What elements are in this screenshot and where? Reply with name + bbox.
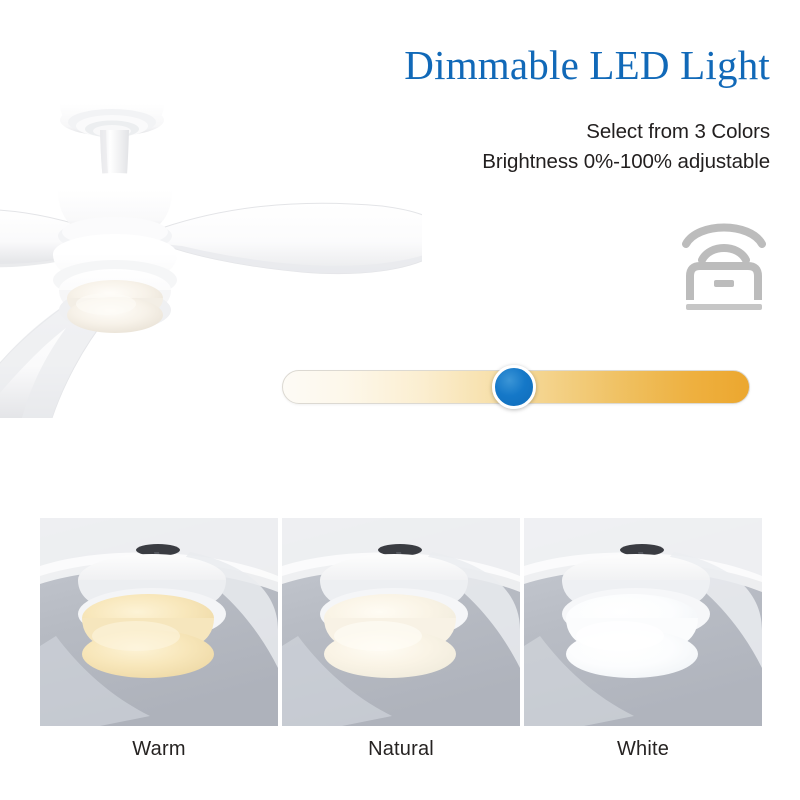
ceiling-fan-product-image (0, 58, 422, 418)
color-panel-natural (282, 518, 520, 726)
caption-natural: Natural (282, 738, 520, 772)
brightness-slider[interactable] (282, 370, 750, 404)
color-panel-captions: Warm Natural White (40, 738, 762, 772)
caption-white: White (524, 738, 762, 772)
product-feature-page: Dimmable LED Light Select from 3 Colors … (0, 0, 800, 800)
brightness-slider-thumb[interactable] (492, 365, 536, 409)
color-temperature-panels (40, 518, 762, 726)
caption-warm: Warm (40, 738, 278, 772)
subtitle-brightness: Brightness 0%-100% adjustable (482, 150, 770, 174)
subtitle-colors: Select from 3 Colors (586, 120, 770, 144)
color-panel-warm (40, 518, 278, 726)
color-panel-white (524, 518, 762, 726)
led-light-disc (59, 269, 171, 333)
fan-blade-right (162, 203, 422, 273)
page-title: Dimmable LED Light (404, 44, 770, 87)
remote-control-signal-icon (676, 214, 772, 312)
